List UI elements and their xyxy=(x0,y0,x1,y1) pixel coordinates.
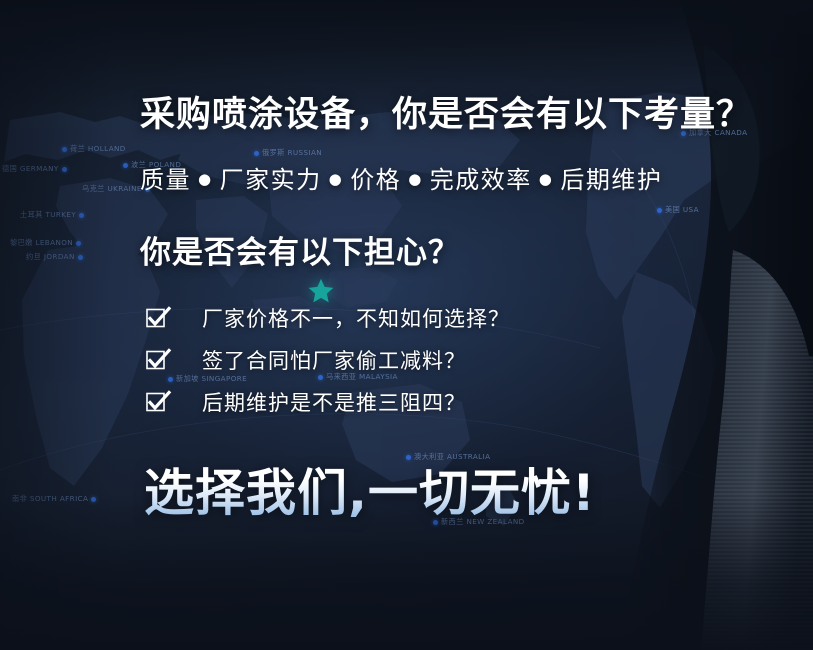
feature-item: 完成效率 xyxy=(430,166,532,194)
map-pin-label: 乌克兰 UKRAINE xyxy=(82,184,142,194)
feature-item: 价格 xyxy=(350,166,401,194)
map-pin-dot xyxy=(62,147,67,152)
map-pin: 荷兰 HOLLAND xyxy=(62,144,126,154)
feature-item: 后期维护 xyxy=(560,166,662,194)
map-pin-label: 约旦 JORDAN xyxy=(26,252,75,262)
map-pin: 南非 SOUTH AFRICA xyxy=(12,494,96,504)
list-item: 厂家价格不一，不知如何选择？ xyxy=(146,301,510,335)
concern-checklist: 厂家价格不一，不知如何选择？ 签了合同怕厂家偷工减料？ xyxy=(146,301,510,427)
map-pin: 土耳其 TURKEY xyxy=(20,210,84,220)
checkbox-checked-icon xyxy=(146,391,170,413)
feature-item: 厂家实力 xyxy=(220,166,322,194)
list-item: 签了合同怕厂家偷工减料？ xyxy=(146,343,510,377)
map-pin-label: 黎巴嫩 LEBANON xyxy=(10,238,73,248)
bullet-separator-icon: ● xyxy=(322,170,351,188)
map-pin-label: 土耳其 TURKEY xyxy=(20,210,76,220)
bullet-separator-icon: ● xyxy=(401,170,430,188)
map-pin: 黎巴嫩 LEBANON xyxy=(10,238,81,248)
feature-item: 质量 xyxy=(140,166,191,194)
map-pin-label: 南非 SOUTH AFRICA xyxy=(12,494,88,504)
promo-banner: 荷兰 HOLLAND 波兰 POLAND 德国 GERMANY 乌克兰 UKRA… xyxy=(0,0,813,650)
list-item: 后期维护是不是推三阻四？ xyxy=(146,385,510,419)
feature-list: 质量●厂家实力●价格●完成效率●后期维护 xyxy=(140,160,662,195)
map-pin-dot xyxy=(62,167,67,172)
banner-content: 采购喷涂设备，你是否会有以下考量？ 质量●厂家实力●价格●完成效率●后期维护 你… xyxy=(140,0,800,650)
map-pin: 德国 GERMANY xyxy=(2,164,67,174)
bullet-separator-icon: ● xyxy=(532,170,561,188)
map-pin-dot xyxy=(76,241,81,246)
map-pin: 约旦 JORDAN xyxy=(26,252,83,262)
checkbox-checked-icon xyxy=(146,349,170,371)
tagline-slogan: 选择我们,一切无忧! xyxy=(144,453,596,525)
map-pin-label: 德国 GERMANY xyxy=(2,164,59,174)
list-item-label: 签了合同怕厂家偷工减料？ xyxy=(202,345,466,375)
map-pin-dot xyxy=(79,213,84,218)
headline-primary: 采购喷涂设备，你是否会有以下考量？ xyxy=(140,86,752,137)
headline-secondary: 你是否会有以下担心？ xyxy=(140,227,460,272)
map-pin-dot xyxy=(91,497,96,502)
list-item-label: 厂家价格不一，不知如何选择？ xyxy=(202,303,510,333)
map-pin-dot xyxy=(78,255,83,260)
map-pin-dot xyxy=(123,163,128,168)
list-item-label: 后期维护是不是推三阻四？ xyxy=(202,387,466,417)
checkbox-checked-icon xyxy=(146,307,170,329)
bullet-separator-icon: ● xyxy=(191,170,220,188)
map-pin-label: 荷兰 HOLLAND xyxy=(70,144,126,154)
